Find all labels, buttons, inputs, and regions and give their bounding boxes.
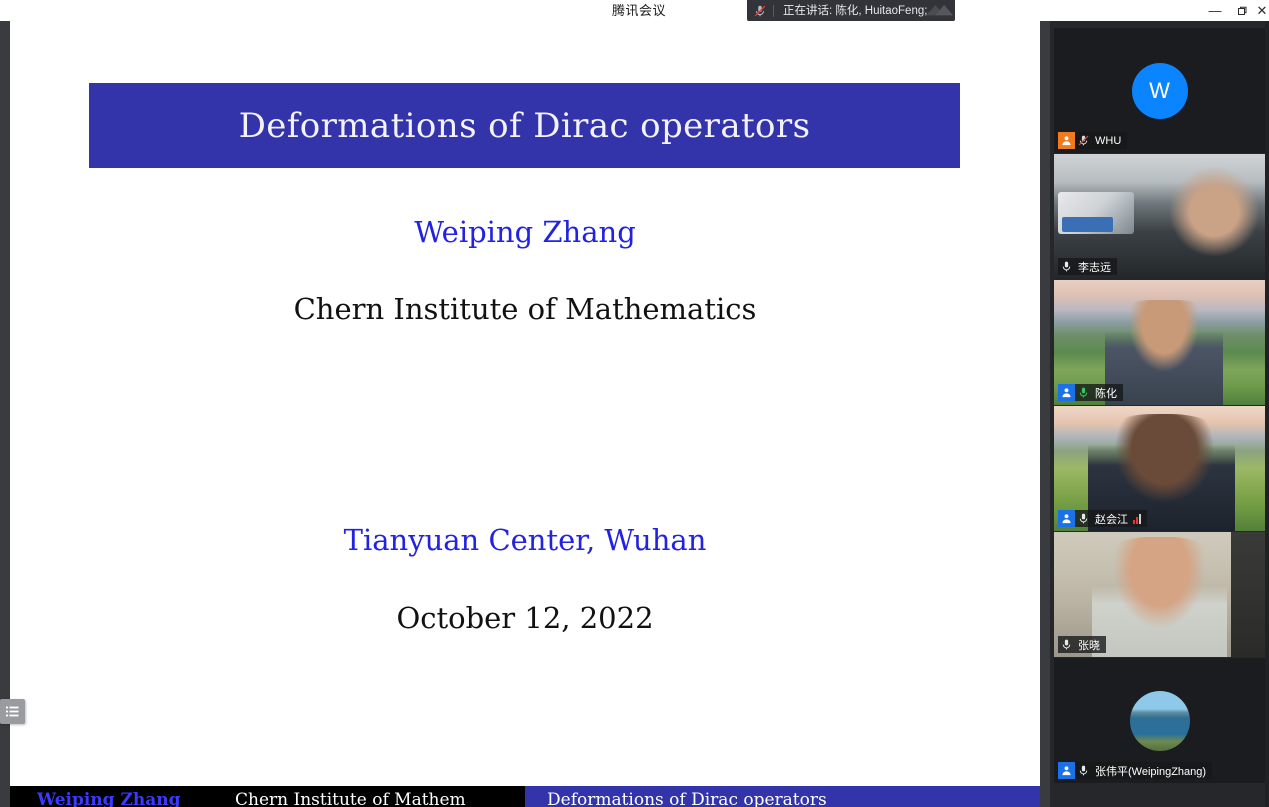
mic-muted-icon [747,0,773,22]
participant-badge-icon [1058,510,1075,527]
participant-name: 陈化 [1095,385,1117,401]
chevron-down-icon[interactable] [923,0,953,22]
mic-icon [1058,258,1075,275]
slide-date: October 12, 2022 [10,601,1040,635]
meeting-window: 腾讯会议 正在讲话: 陈化, HuitaoFeng;... — [0,0,1269,807]
title-bar: 腾讯会议 正在讲话: 陈化, HuitaoFeng;... — [0,0,1269,21]
tile-namebar: 李志远 [1058,258,1117,275]
app-title: 腾讯会议 [612,2,666,19]
participant-name: 张伟平(WeipingZhang) [1095,763,1206,779]
participant-tile[interactable]: 张伟平(WeipingZhang) [1054,658,1265,783]
slide-affiliation: Chern Institute of Mathematics [10,292,1040,326]
mic-icon [1075,510,1092,527]
participant-filmstrip[interactable]: W WHU [1050,21,1269,807]
participant-badge-icon [1058,384,1075,401]
footer-affiliation: Chern Institute of Mathem [235,786,525,807]
participant-tile[interactable]: 张晓 [1054,532,1265,657]
participant-tile[interactable]: 陈化 [1054,280,1265,405]
shared-screen-region: Deformations of Dirac operators Weiping … [0,21,1050,807]
tile-namebar: WHU [1058,132,1127,149]
title-bar-left-spacer [0,0,600,21]
mic-icon [1058,636,1075,653]
filmstrip-top-spacer [1050,21,1269,28]
tile-namebar: 陈化 [1058,384,1123,401]
participant-name: WHU [1095,135,1121,147]
participant-tile[interactable]: W WHU [1054,28,1265,153]
close-button[interactable]: ✕ [1255,0,1269,21]
host-badge-icon [1058,132,1075,149]
participant-badge-icon [1058,762,1075,779]
speaking-text: 正在讲话: 陈化, HuitaoFeng;... [774,0,937,22]
participant-name: 赵会江 [1095,511,1128,527]
avatar: W [1132,63,1188,119]
tile-namebar: 张晓 [1058,636,1106,653]
slide-venue: Tianyuan Center, Wuhan [10,523,1040,557]
footer-author: Weiping Zhang [10,786,235,807]
signal-strength-icon [1133,513,1141,524]
mic-muted-icon [1075,132,1092,149]
participant-name: 张晓 [1078,637,1100,653]
mic-icon [1075,762,1092,779]
list-icon[interactable] [0,699,25,724]
tile-namebar: 张伟平(WeipingZhang) [1058,762,1212,779]
maximize-button[interactable] [1229,0,1255,21]
presentation-slide: Deformations of Dirac operators Weiping … [10,21,1040,786]
slide-title-banner: Deformations of Dirac operators [89,83,960,168]
slide-title: Deformations of Dirac operators [239,106,811,146]
participant-tile[interactable]: 李志远 [1054,154,1265,279]
minimize-button[interactable]: — [1201,0,1229,21]
speaking-indicator[interactable]: 正在讲话: 陈化, HuitaoFeng;... [747,0,955,22]
slide-author: Weiping Zhang [10,215,1040,249]
filmstrip-scrollbar[interactable] [1265,21,1269,807]
avatar [1130,691,1190,751]
mic-active-icon [1075,384,1092,401]
participant-tile[interactable]: 赵会江 [1054,406,1265,531]
participant-name: 李志远 [1078,259,1111,275]
tile-namebar: 赵会江 [1058,510,1147,527]
slide-footer: Weiping Zhang Chern Institute of Mathem … [10,786,1040,807]
footer-title: Deformations of Dirac operators [525,786,1040,807]
